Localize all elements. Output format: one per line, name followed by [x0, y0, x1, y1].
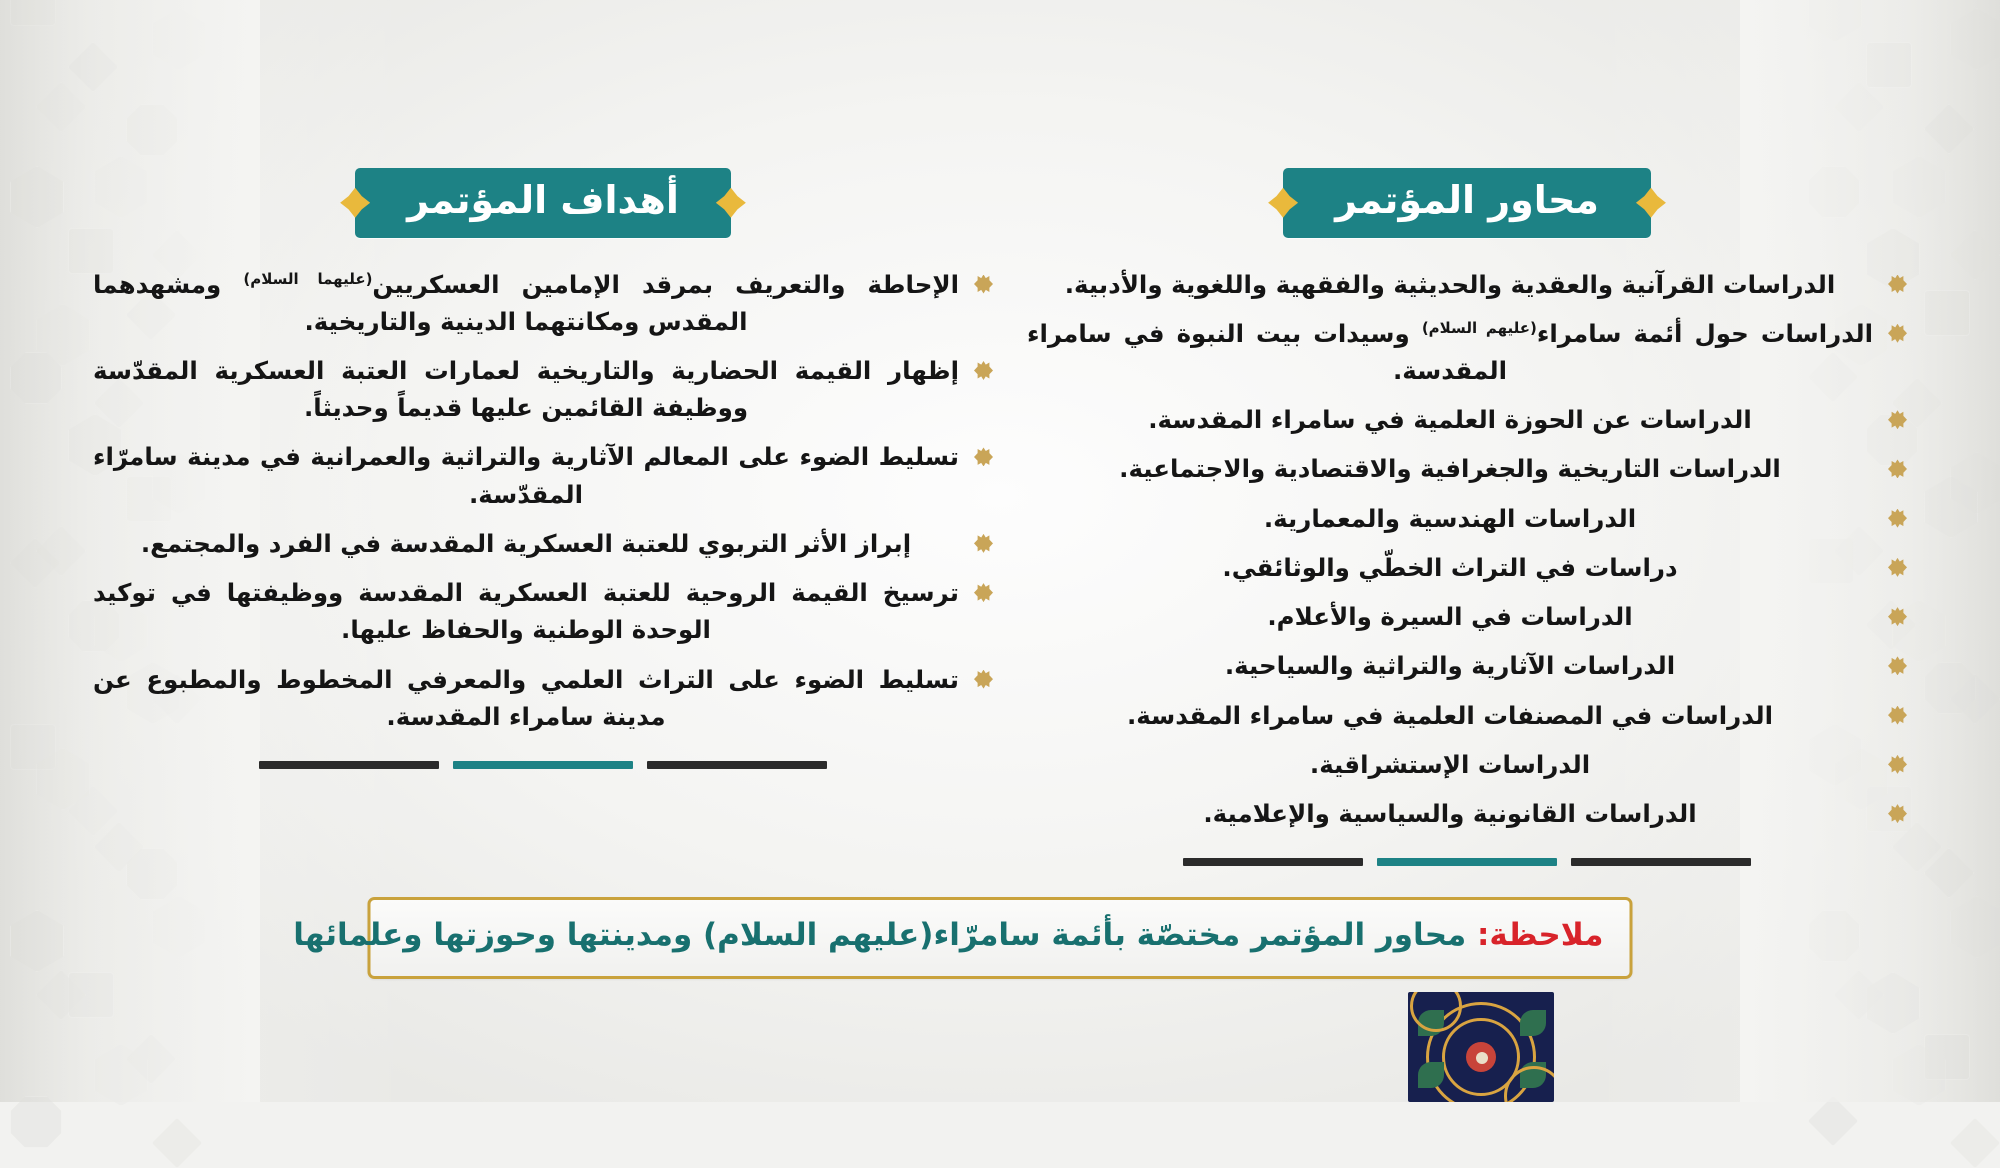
list-item-label: الدراسات في السيرة والأعلام. — [1267, 602, 1632, 631]
ornamental-medallion — [1408, 992, 1554, 1102]
note-box: ملاحظة: محاور المؤتمر مختصّة بأئمة سامرّ… — [368, 897, 1633, 979]
flower-bullet-icon — [974, 361, 993, 380]
list-item: إظهار القيمة الحضارية والتاريخية لعمارات… — [93, 352, 993, 426]
note-text: ملاحظة: محاور المؤتمر مختصّة بأئمة سامرّ… — [397, 915, 1604, 957]
note-label: ملاحظة: — [1477, 917, 1603, 953]
list-item: الدراسات الهندسية والمعمارية. — [1027, 500, 1907, 537]
list-item-label: إظهار القيمة الحضارية والتاريخية لعمارات… — [93, 356, 959, 422]
poster-content: أهداف المؤتمر الإحاطة والتعريف بمرقد الإ… — [0, 0, 2000, 1102]
objectives-title: أهداف المؤتمر — [407, 178, 679, 222]
flower-bullet-icon — [1888, 509, 1907, 528]
diamond-ornament-icon — [1636, 188, 1666, 218]
list-item-label: دراسات في التراث الخطّي والوثائقي. — [1222, 553, 1677, 582]
list-item: الإحاطة والتعريف بمرقد الإمامين العسكريي… — [93, 266, 993, 340]
rule-teal — [453, 761, 633, 769]
rule-dark — [647, 761, 827, 769]
list-item-label: الإحاطة والتعريف بمرقد الإمامين العسكريي… — [93, 270, 959, 336]
list-item: الدراسات في المصنفات العلمية في سامراء ا… — [1027, 697, 1907, 734]
list-item-label: الدراسات عن الحوزة العلمية في سامراء الم… — [1148, 405, 1752, 434]
rule-teal — [1377, 858, 1557, 866]
flower-bullet-icon — [1888, 755, 1907, 774]
list-item: الدراسات الآثارية والتراثية والسياحية. — [1027, 647, 1907, 684]
diamond-ornament-icon — [340, 188, 370, 218]
objectives-banner-wrap: أهداف المؤتمر — [93, 168, 993, 238]
flower-bullet-icon — [1888, 459, 1907, 478]
themes-section: محاور المؤتمر الدراسات القرآنية والعقدية… — [1027, 168, 1907, 866]
list-item-label: ترسيخ القيمة الروحية للعتبة العسكرية الم… — [93, 578, 959, 644]
themes-rule-group — [1027, 858, 1907, 866]
flower-bullet-icon — [974, 534, 993, 553]
flower-bullet-icon — [1888, 275, 1907, 294]
list-item: ترسيخ القيمة الروحية للعتبة العسكرية الم… — [93, 574, 993, 648]
medallion-element — [1476, 1052, 1488, 1064]
list-item-label: إبراز الأثر التربوي للعتبة العسكرية المق… — [141, 529, 911, 558]
objectives-rule-group — [93, 761, 993, 769]
list-item-label: تسليط الضوء على التراث العلمي والمعرفي ا… — [93, 665, 959, 731]
medallion-element — [1418, 1062, 1444, 1088]
ornament-tile — [1808, 1096, 1858, 1146]
objectives-section: أهداف المؤتمر الإحاطة والتعريف بمرقد الإ… — [93, 168, 993, 866]
themes-title: محاور المؤتمر — [1335, 178, 1599, 222]
diamond-ornament-icon — [1268, 188, 1298, 218]
note-body: محاور المؤتمر مختصّة بأئمة سامرّاء(عليهم… — [293, 917, 1466, 953]
list-item-label: الدراسات القانونية والسياسية والإعلامية. — [1203, 799, 1696, 828]
flower-bullet-icon — [974, 583, 993, 602]
flower-bullet-icon — [974, 275, 993, 294]
two-column-layout: أهداف المؤتمر الإحاطة والتعريف بمرقد الإ… — [0, 168, 2000, 866]
medallion-artwork — [1408, 992, 1554, 1102]
flower-bullet-icon — [1888, 656, 1907, 675]
flower-bullet-icon — [1888, 558, 1907, 577]
flower-bullet-icon — [1888, 410, 1907, 429]
flower-bullet-icon — [1888, 607, 1907, 626]
list-item: الدراسات عن الحوزة العلمية في سامراء الم… — [1027, 401, 1907, 438]
flower-bullet-icon — [1888, 706, 1907, 725]
themes-banner: محاور المؤتمر — [1283, 168, 1651, 238]
list-item: الدراسات في السيرة والأعلام. — [1027, 598, 1907, 635]
list-item: الدراسات التاريخية والجغرافية والاقتصادي… — [1027, 450, 1907, 487]
flower-bullet-icon — [1888, 324, 1907, 343]
list-item: الدراسات الإستشراقية. — [1027, 746, 1907, 783]
list-item-label: الدراسات القرآنية والعقدية والحديثية وال… — [1065, 270, 1835, 299]
themes-list: الدراسات القرآنية والعقدية والحديثية وال… — [1027, 266, 1907, 833]
themes-banner-wrap: محاور المؤتمر — [1027, 168, 1907, 238]
list-item-label: الدراسات حول أئمة سامراء(عليهم السلام) و… — [1027, 319, 1873, 385]
list-item-label: تسليط الضوء على المعالم الآثارية والتراث… — [93, 442, 959, 508]
flower-bullet-icon — [974, 670, 993, 689]
flower-bullet-icon — [1888, 804, 1907, 823]
ornament-tile — [1950, 1118, 2000, 1168]
list-item: الدراسات حول أئمة سامراء(عليهم السلام) و… — [1027, 315, 1907, 389]
ornament-tile — [10, 1096, 62, 1148]
list-item: الدراسات القانونية والسياسية والإعلامية. — [1027, 795, 1907, 832]
list-item-label: الدراسات التاريخية والجغرافية والاقتصادي… — [1119, 454, 1781, 483]
list-item-label: الدراسات الآثارية والتراثية والسياحية. — [1225, 651, 1675, 680]
medallion-element — [1520, 1010, 1546, 1036]
honorific-glyph: (عليهما السلام) — [243, 269, 372, 287]
list-item: إبراز الأثر التربوي للعتبة العسكرية المق… — [93, 525, 993, 562]
honorific-glyph: (عليهم السلام) — [1422, 319, 1537, 337]
diamond-ornament-icon — [716, 188, 746, 218]
list-item: تسليط الضوء على التراث العلمي والمعرفي ا… — [93, 661, 993, 735]
list-item: دراسات في التراث الخطّي والوثائقي. — [1027, 549, 1907, 586]
objectives-list: الإحاطة والتعريف بمرقد الإمامين العسكريي… — [93, 266, 993, 736]
objectives-banner: أهداف المؤتمر — [355, 168, 731, 238]
list-item: تسليط الضوء على المعالم الآثارية والتراث… — [93, 438, 993, 512]
ornament-tile — [152, 1118, 202, 1168]
list-item: الدراسات القرآنية والعقدية والحديثية وال… — [1027, 266, 1907, 303]
list-item-label: الدراسات في المصنفات العلمية في سامراء ا… — [1127, 701, 1773, 730]
list-item-label: الدراسات الإستشراقية. — [1310, 750, 1590, 779]
list-item-label: الدراسات الهندسية والمعمارية. — [1264, 504, 1636, 533]
rule-dark — [1183, 858, 1363, 866]
flower-bullet-icon — [974, 447, 993, 466]
rule-dark — [1571, 858, 1751, 866]
rule-dark — [259, 761, 439, 769]
